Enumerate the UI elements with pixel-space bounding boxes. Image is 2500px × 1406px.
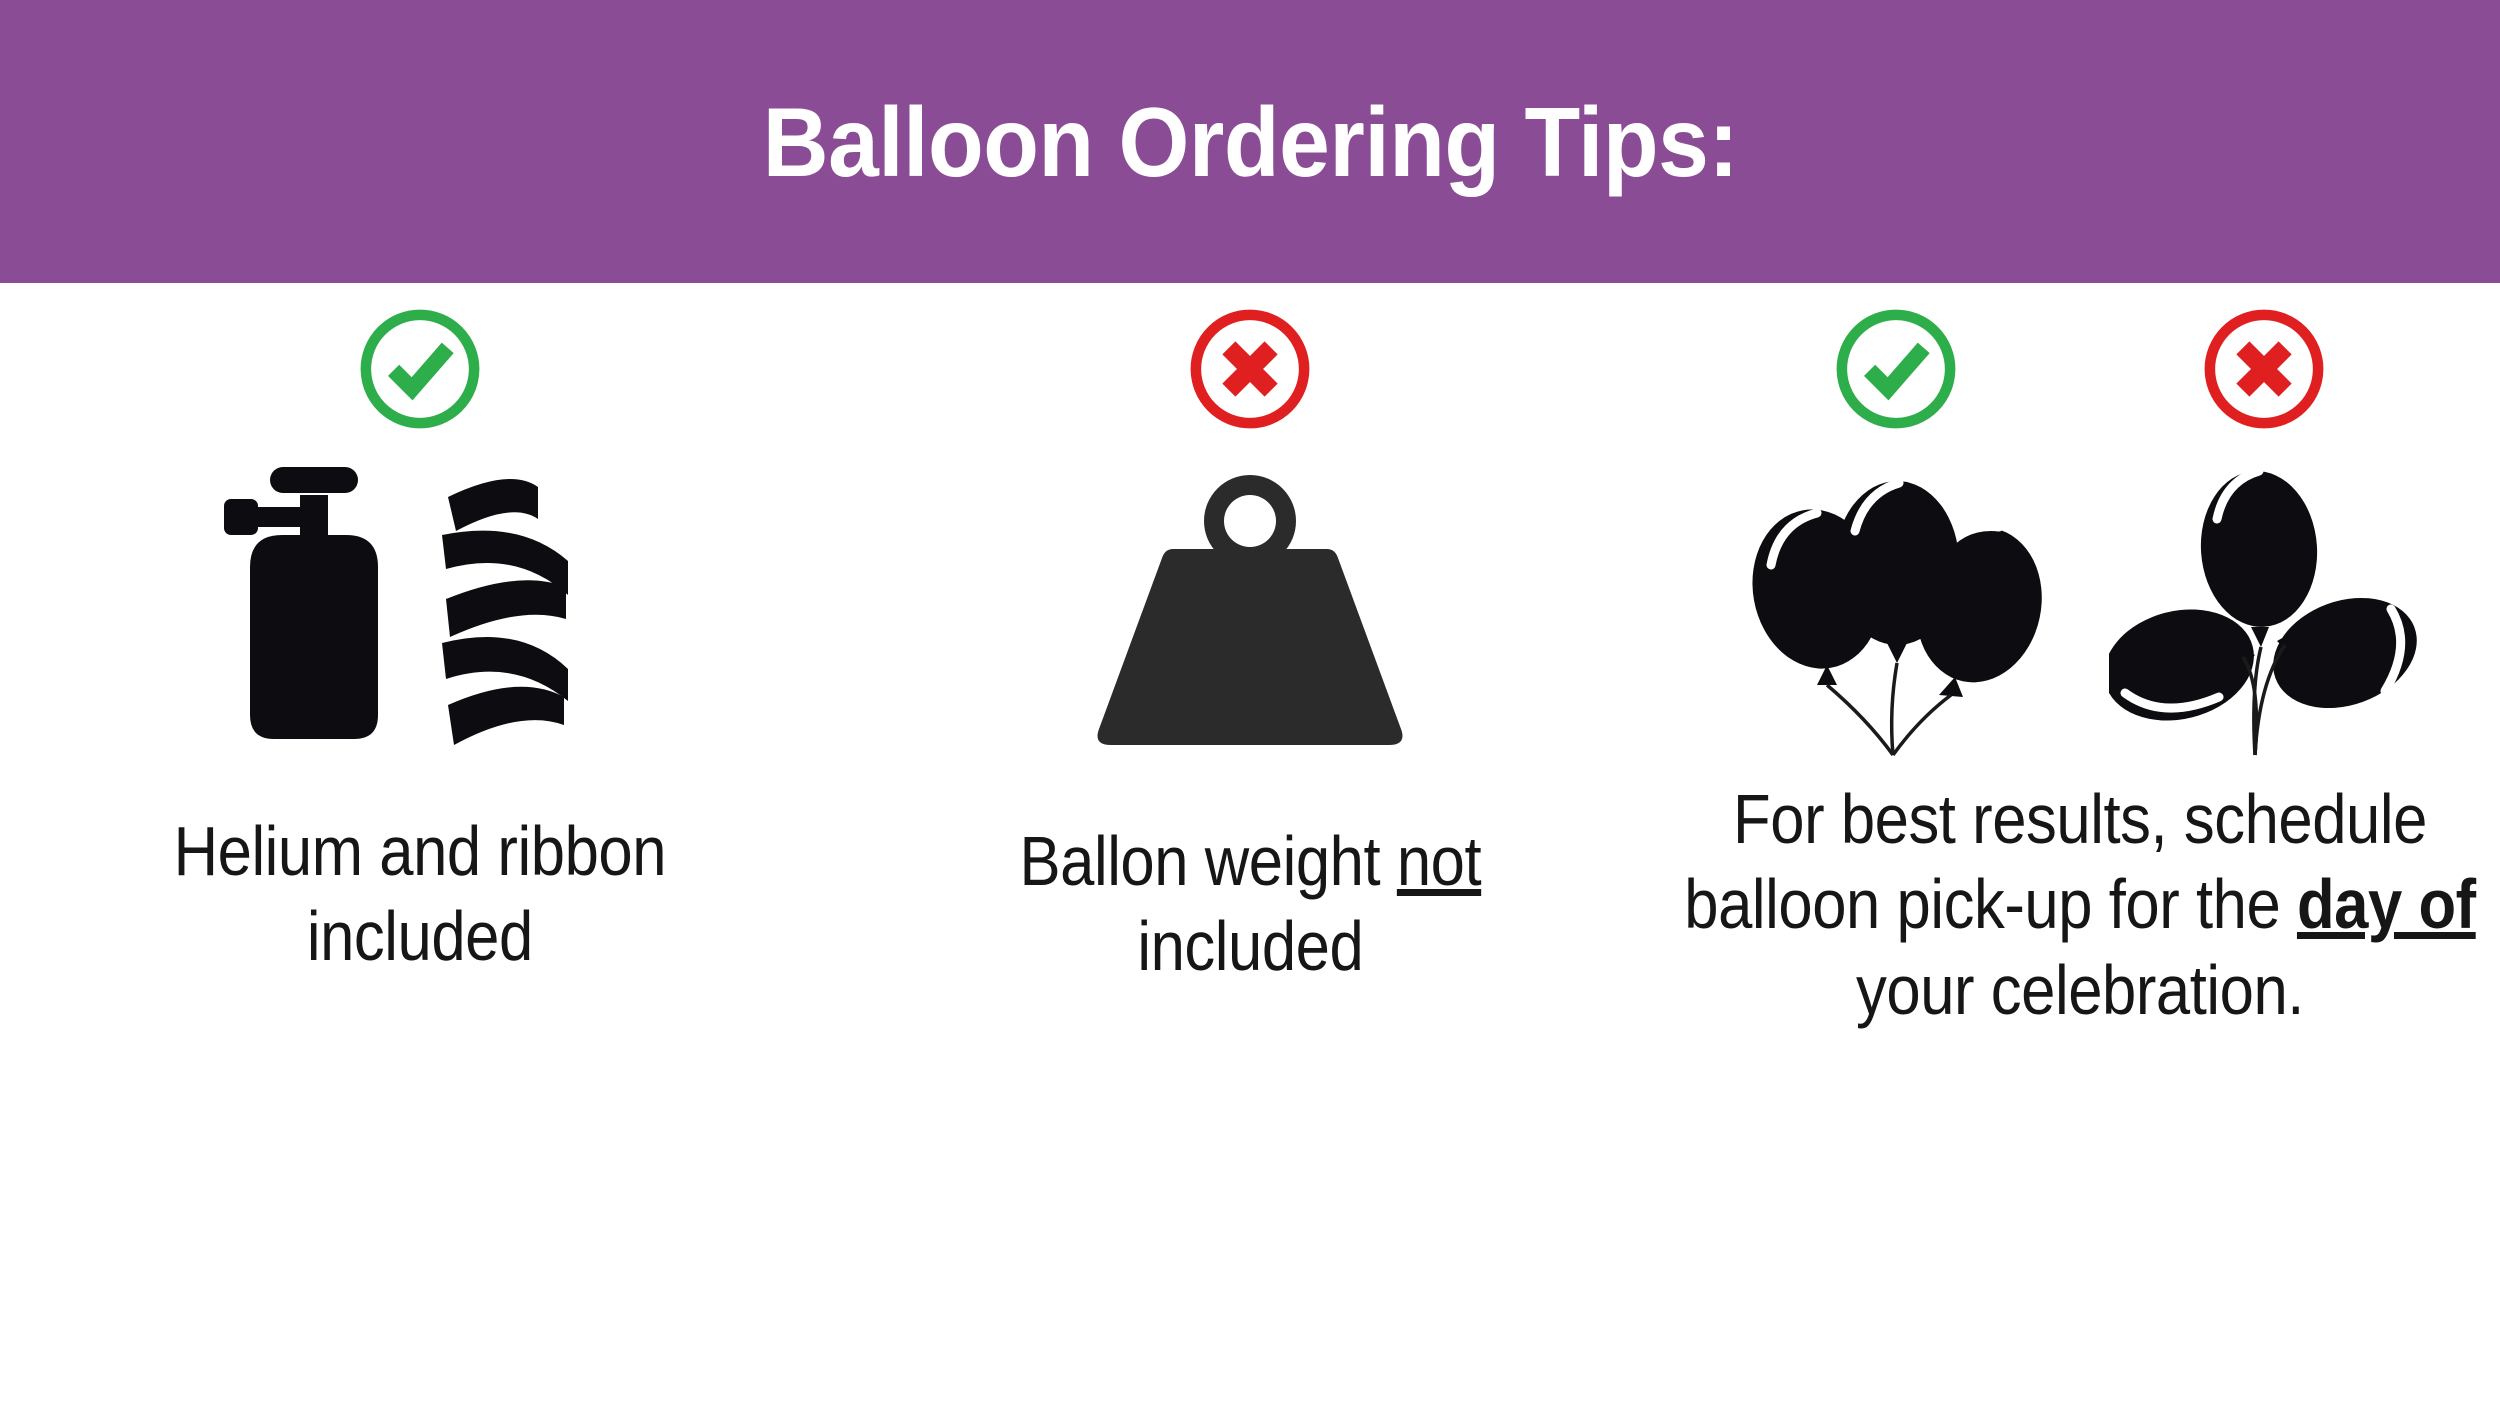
floating-balloons-icon bbox=[1741, 457, 2051, 757]
caption-prefix: Ballon weight bbox=[1019, 822, 1396, 900]
tip-caption-helium-and-ribbon: Helium and ribbon included bbox=[174, 809, 666, 980]
caption-suffix: included bbox=[1137, 907, 1363, 985]
badge-stack-floating-balloons bbox=[1741, 303, 2051, 757]
badge-stack bbox=[220, 303, 620, 747]
badge-row bbox=[1660, 283, 2500, 757]
check-circle-icon bbox=[354, 303, 486, 435]
curling-ribbon-icon bbox=[442, 479, 568, 745]
helium-tank-icon bbox=[224, 467, 378, 739]
badge-row bbox=[840, 283, 1660, 757]
page-title: Balloon Ordering Tips: bbox=[762, 93, 1737, 191]
cross-circle-icon bbox=[1184, 303, 1316, 435]
caption-suffix: your celebration. bbox=[1856, 951, 2304, 1029]
badge-stack-deflated-balloons bbox=[2109, 303, 2419, 757]
badge-stack bbox=[1085, 303, 1415, 757]
balloon-weight-icon bbox=[1085, 457, 1415, 757]
tips-body: Helium and ribbon included Ballon weight… bbox=[0, 283, 2500, 1406]
deflated-balloons-icon bbox=[2109, 457, 2419, 757]
check-circle-icon bbox=[1830, 303, 1962, 435]
tip-column-pickup-timing: For best results, schedule balloon pick-… bbox=[1660, 283, 2500, 1033]
tip-column-balloon-weight: Ballon weight not included bbox=[840, 283, 1660, 990]
caption-emphasis-day-of: day of bbox=[2297, 865, 2476, 943]
caption-emphasis-not: not bbox=[1397, 822, 1481, 900]
tip-caption-balloon-weight: Ballon weight not included bbox=[1019, 819, 1481, 990]
tip-caption-pickup-timing: For best results, schedule balloon pick-… bbox=[1658, 777, 2500, 1033]
tip-column-helium-and-ribbon: Helium and ribbon included bbox=[0, 283, 840, 980]
helium-tank-and-ribbon-group bbox=[220, 457, 620, 747]
header-banner: Balloon Ordering Tips: bbox=[0, 0, 2500, 283]
badge-row bbox=[0, 283, 840, 747]
cross-circle-icon bbox=[2198, 303, 2330, 435]
